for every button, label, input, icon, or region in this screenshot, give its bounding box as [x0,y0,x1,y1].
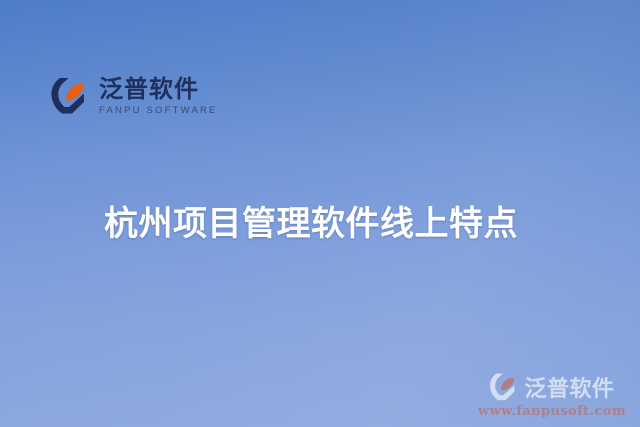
watermark-url: www.fanpusoft.com [478,404,626,419]
watermark-name-cn: 泛普软件 [524,371,614,403]
brand-wordmark: 泛普软件 FANPU SOFTWARE [99,77,218,116]
brand-name-en: FANPU SOFTWARE [99,106,218,116]
page-title: 杭州项目管理软件线上特点 [104,205,518,244]
watermark: 泛普软件 www.fanpusoft.com [478,371,626,419]
watermark-logo-row: 泛普软件 [489,371,614,403]
brand-logo: 泛普软件 FANPU SOFTWARE [50,76,218,116]
fanpu-logo-icon [489,372,519,402]
fanpu-logo-icon [50,76,90,116]
slide-canvas: 泛普软件 FANPU SOFTWARE 杭州项目管理软件线上特点 泛普软件 ww… [0,0,640,427]
brand-name-cn: 泛普软件 [99,77,218,101]
